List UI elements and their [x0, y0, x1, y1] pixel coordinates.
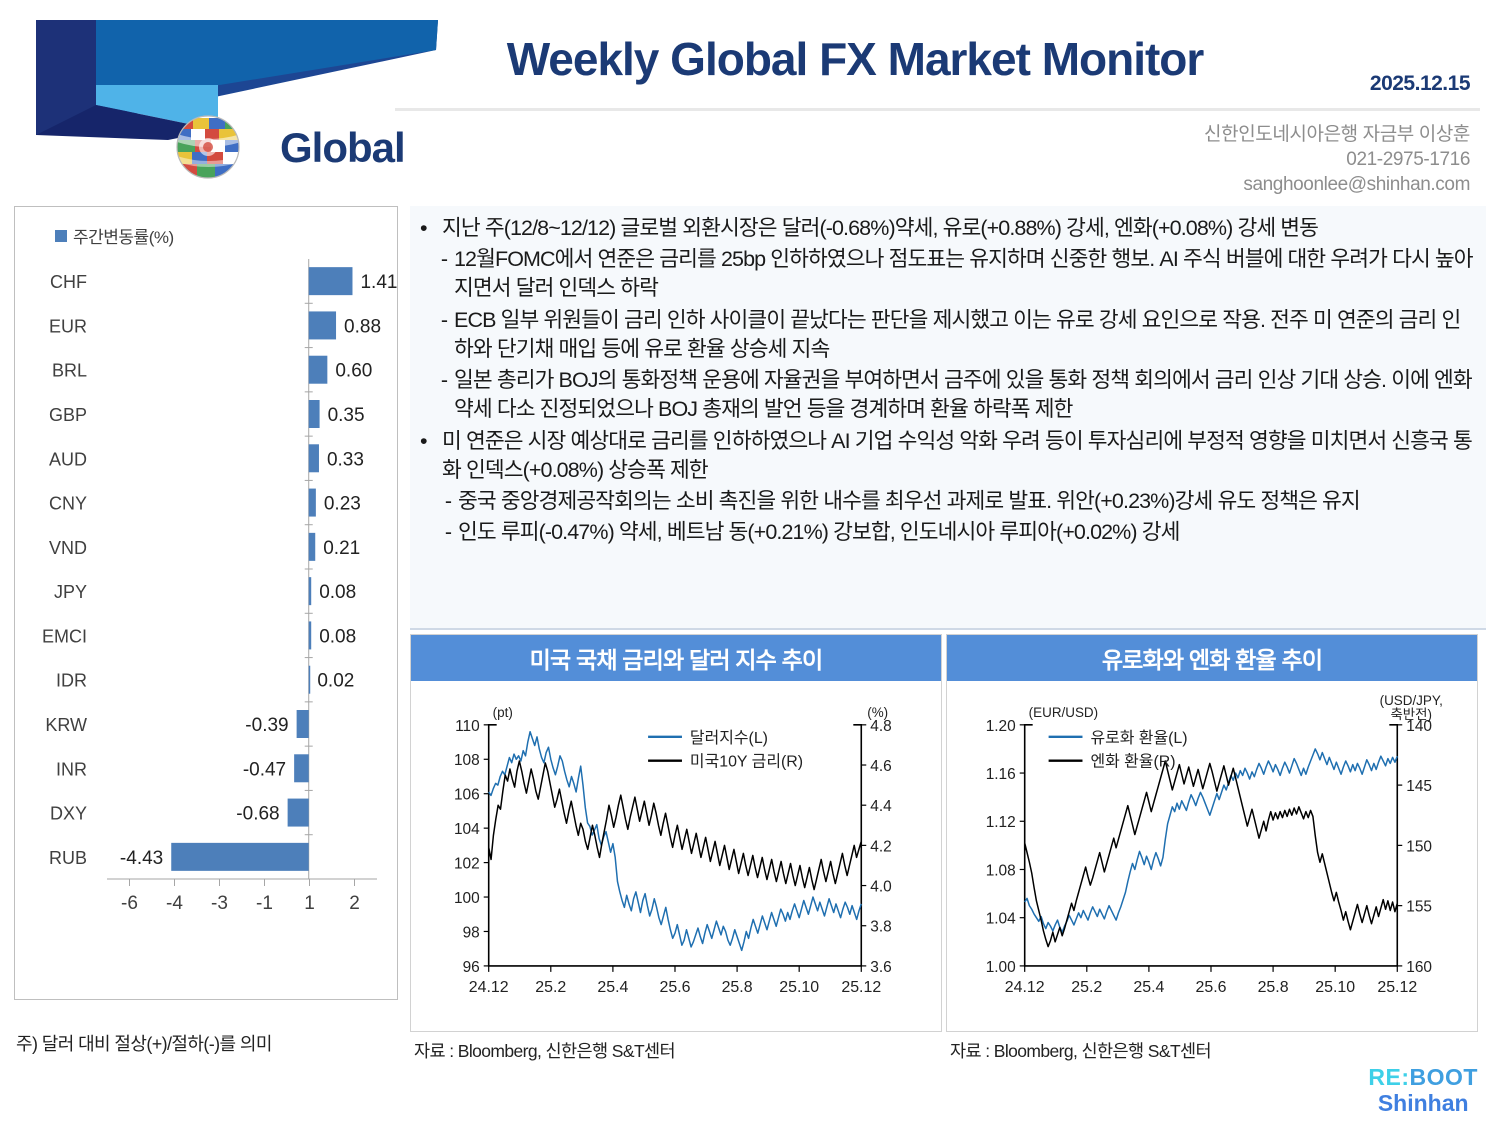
- svg-text:3.8: 3.8: [870, 919, 891, 936]
- commentary-bullet: -인도 루피(-0.47%) 약세, 베트남 동(+0.21%) 강보합, 인도…: [420, 518, 1476, 547]
- bullet-dash-icon: -: [434, 245, 454, 303]
- svg-text:-0.39: -0.39: [245, 715, 288, 736]
- svg-text:0.23: 0.23: [324, 494, 361, 515]
- svg-text:0.08: 0.08: [319, 626, 356, 647]
- svg-text:98: 98: [463, 924, 480, 941]
- svg-text:108: 108: [454, 752, 480, 769]
- svg-text:25.12: 25.12: [841, 979, 881, 996]
- svg-text:25.4: 25.4: [1133, 979, 1164, 996]
- commentary-text: ECB 일부 위원들이 금리 인하 사이클이 끝났다는 판단을 제시했고 이는 …: [454, 306, 1476, 364]
- svg-text:EMCI: EMCI: [42, 626, 87, 646]
- chart-panel-eur-jpy: 유로화와 엔화 환율 추이 1.201.161.121.081.041.0014…: [946, 634, 1478, 1032]
- svg-text:달러지수(L): 달러지수(L): [690, 729, 768, 747]
- svg-text:1.04: 1.04: [986, 911, 1016, 928]
- bullet-dash-icon: -: [438, 518, 458, 547]
- svg-text:96: 96: [463, 959, 480, 976]
- svg-text:KRW: KRW: [45, 715, 87, 735]
- svg-text:1.20: 1.20: [986, 718, 1016, 735]
- commentary-block: •지난 주(12/8~12/12) 글로벌 외환시장은 달러(-0.68%)약세…: [410, 206, 1486, 630]
- commentary-text: 일본 총리가 BOJ의 통화정책 운용에 자율권을 부여하면서 금주에 있을 통…: [454, 366, 1476, 424]
- weekly-change-bar-chart: 주간변동률(%) CHF1.41EUR0.88BRL0.60GBP0.35AUD…: [14, 206, 398, 1000]
- svg-text:100: 100: [454, 890, 480, 907]
- svg-text:160: 160: [1406, 959, 1432, 976]
- svg-text:0.21: 0.21: [323, 538, 360, 559]
- svg-text:25.8: 25.8: [722, 979, 753, 996]
- svg-text:0.60: 0.60: [335, 361, 372, 382]
- chart1-plot: 11010810610410210098964.84.64.44.24.03.8…: [411, 681, 941, 1030]
- commentary-text: 중국 중앙경제공작회의는 소비 촉진을 위한 내수를 최우선 과제로 발표. 위…: [458, 487, 1476, 516]
- svg-text:2: 2: [349, 893, 360, 914]
- svg-text:-6: -6: [121, 893, 138, 914]
- chart1-title: 미국 국채 금리와 달러 지수 추이: [411, 635, 941, 681]
- svg-text:VND: VND: [49, 538, 87, 558]
- page-header: Weekly Global FX Market Monitor 2025.12.…: [0, 0, 1500, 196]
- svg-text:25.2: 25.2: [1071, 979, 1102, 996]
- svg-text:1.08: 1.08: [986, 862, 1016, 879]
- svg-text:1.16: 1.16: [986, 766, 1016, 783]
- svg-text:104: 104: [454, 821, 480, 838]
- svg-text:IDR: IDR: [56, 671, 87, 691]
- chart1-source: 자료 : Bloomberg, 신한은행 S&T센터: [414, 1038, 675, 1063]
- svg-text:4.2: 4.2: [870, 838, 891, 855]
- reboot-shinhan-logo: RE:BOOT Shinhan: [1368, 1066, 1478, 1115]
- svg-text:-3: -3: [211, 893, 228, 914]
- svg-text:25.4: 25.4: [597, 979, 628, 996]
- legend-swatch-weekly-change: [55, 230, 67, 242]
- svg-text:24.12: 24.12: [1005, 979, 1045, 996]
- svg-text:-0.47: -0.47: [243, 759, 286, 780]
- contact-name: 신한인도네시아은행 자금부 이상훈: [1204, 122, 1470, 147]
- bullet-dash-icon: -: [434, 366, 454, 424]
- report-date: 2025.12.15: [1370, 72, 1470, 96]
- chart1-body: 11010810610410210098964.84.64.44.24.03.8…: [411, 681, 941, 1031]
- section-label: Global: [280, 124, 405, 172]
- commentary-bullet: •지난 주(12/8~12/12) 글로벌 외환시장은 달러(-0.68%)약세…: [420, 214, 1476, 243]
- svg-text:3.6: 3.6: [870, 959, 891, 976]
- logo-shinhan-text: Shinhan: [1368, 1092, 1478, 1115]
- svg-text:CHF: CHF: [50, 272, 87, 292]
- svg-text:24.12: 24.12: [469, 979, 509, 996]
- svg-text:4.8: 4.8: [870, 718, 891, 735]
- svg-text:GBP: GBP: [49, 405, 87, 425]
- page-title: Weekly Global FX Market Monitor: [440, 36, 1270, 82]
- bullet-dot-icon: •: [420, 214, 442, 243]
- svg-text:EUR: EUR: [49, 316, 87, 336]
- svg-text:-1: -1: [256, 893, 273, 914]
- legend-label-weekly-change: 주간변동률(%): [73, 228, 174, 247]
- commentary-text: 인도 루피(-0.47%) 약세, 베트남 동(+0.21%) 강보합, 인도네…: [458, 518, 1476, 547]
- svg-text:0.35: 0.35: [328, 405, 365, 426]
- contact-phone: 021-2975-1716: [1204, 147, 1470, 172]
- bullet-dash-icon: -: [438, 487, 458, 516]
- bar-chart-legend: 주간변동률(%): [55, 223, 174, 248]
- logo-boot-text: BOOT: [1410, 1064, 1478, 1090]
- svg-text:1: 1: [304, 893, 315, 914]
- svg-text:CNY: CNY: [49, 494, 87, 514]
- bullet-dot-icon: •: [420, 427, 442, 485]
- contact-email: sanghoonlee@shinhan.com: [1204, 172, 1470, 197]
- svg-text:-0.68: -0.68: [236, 804, 279, 825]
- bar-chart-note: 주) 달러 대비 절상(+)/절하(-)를 의미: [16, 1030, 272, 1056]
- commentary-bullet: -일본 총리가 BOJ의 통화정책 운용에 자율권을 부여하면서 금주에 있을 …: [420, 366, 1476, 424]
- svg-text:축반전): 축반전): [1390, 707, 1432, 722]
- commentary-bullet: -12월FOMC에서 연준은 금리를 25bp 인하하였으나 점도표는 유지하며…: [420, 245, 1476, 303]
- svg-text:1.41: 1.41: [360, 272, 397, 293]
- svg-text:25.6: 25.6: [659, 979, 690, 996]
- svg-text:150: 150: [1406, 838, 1432, 855]
- svg-text:(USD/JPY,: (USD/JPY,: [1380, 693, 1443, 708]
- chart2-plot: 1.201.161.121.081.041.00140145150155160(…: [947, 681, 1477, 1030]
- svg-text:110: 110: [455, 718, 480, 735]
- svg-text:4.4: 4.4: [870, 798, 892, 815]
- svg-text:JPY: JPY: [54, 582, 87, 602]
- svg-text:RUB: RUB: [49, 848, 87, 868]
- svg-text:AUD: AUD: [49, 449, 87, 469]
- svg-text:미국10Y 금리(R): 미국10Y 금리(R): [690, 753, 803, 771]
- commentary-bullet: -중국 중앙경제공작회의는 소비 촉진을 위한 내수를 최우선 과제로 발표. …: [420, 487, 1476, 516]
- commentary-text: 12월FOMC에서 연준은 금리를 25bp 인하하였으나 점도표는 유지하며 …: [454, 245, 1476, 303]
- svg-text:25.12: 25.12: [1377, 979, 1417, 996]
- svg-text:-4.43: -4.43: [120, 848, 163, 869]
- commentary-text: 미 연준은 시장 예상대로 금리를 인하하였으나 AI 기업 수익성 악화 우려…: [442, 427, 1476, 485]
- svg-text:(pt): (pt): [493, 705, 513, 720]
- svg-text:0.88: 0.88: [344, 316, 381, 337]
- header-divider: [395, 108, 1480, 111]
- svg-text:145: 145: [1406, 778, 1432, 795]
- svg-text:155: 155: [1406, 899, 1432, 916]
- svg-text:0.02: 0.02: [317, 671, 354, 692]
- chart2-body: 1.201.161.121.081.041.00140145150155160(…: [947, 681, 1477, 1031]
- bar-chart-plot: CHF1.41EUR0.88BRL0.60GBP0.35AUD0.33CNY0.…: [15, 251, 397, 951]
- logo-re-text: RE:: [1368, 1064, 1409, 1090]
- globe-flags-icon: [175, 114, 241, 180]
- commentary-bullet: •미 연준은 시장 예상대로 금리를 인하하였으나 AI 기업 수익성 악화 우…: [420, 427, 1476, 485]
- commentary-text: 지난 주(12/8~12/12) 글로벌 외환시장은 달러(-0.68%)약세,…: [442, 214, 1476, 243]
- svg-text:(EUR/USD): (EUR/USD): [1029, 705, 1098, 720]
- svg-text:25.10: 25.10: [779, 979, 819, 996]
- contact-block: 신한인도네시아은행 자금부 이상훈 021-2975-1716 sanghoon…: [1204, 122, 1470, 197]
- svg-text:유로화 환율(L): 유로화 환율(L): [1090, 729, 1187, 747]
- commentary-bullet: -ECB 일부 위원들이 금리 인하 사이클이 끝났다는 판단을 제시했고 이는…: [420, 306, 1476, 364]
- svg-text:102: 102: [454, 856, 480, 873]
- svg-text:INR: INR: [56, 759, 87, 779]
- svg-text:106: 106: [454, 787, 480, 804]
- bullet-dash-icon: -: [434, 306, 454, 364]
- svg-text:0.33: 0.33: [327, 449, 364, 470]
- svg-text:DXY: DXY: [50, 804, 87, 824]
- svg-text:4.6: 4.6: [870, 758, 891, 775]
- svg-text:25.8: 25.8: [1258, 979, 1289, 996]
- svg-text:BRL: BRL: [52, 361, 87, 381]
- chart2-source: 자료 : Bloomberg, 신한은행 S&T센터: [950, 1038, 1211, 1063]
- svg-text:-4: -4: [166, 893, 183, 914]
- chart-panel-ust-dollar-index: 미국 국채 금리와 달러 지수 추이 110108106104102100989…: [410, 634, 942, 1032]
- svg-text:25.10: 25.10: [1315, 979, 1355, 996]
- svg-text:1.12: 1.12: [986, 814, 1016, 831]
- svg-text:25.6: 25.6: [1195, 979, 1226, 996]
- chart2-title: 유로화와 엔화 환율 추이: [947, 635, 1477, 681]
- svg-text:(%): (%): [867, 705, 888, 720]
- svg-text:엔화 환율(R): 엔화 환율(R): [1090, 753, 1175, 771]
- svg-text:1.00: 1.00: [986, 959, 1016, 976]
- svg-text:4.0: 4.0: [870, 879, 891, 896]
- svg-text:0.08: 0.08: [319, 582, 356, 603]
- svg-text:25.2: 25.2: [535, 979, 566, 996]
